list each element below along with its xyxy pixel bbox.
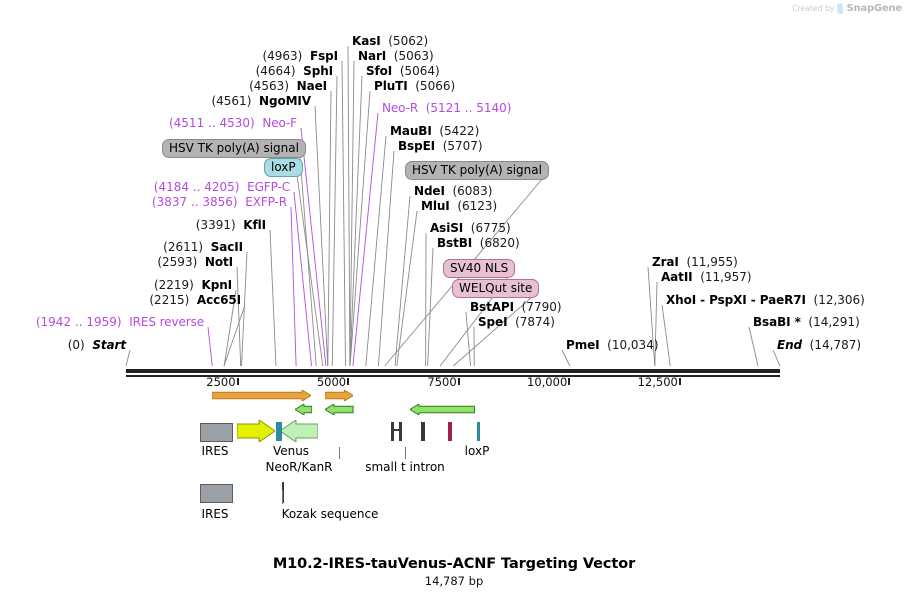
enzyme-position: (5121 .. 5140) <box>426 101 512 115</box>
primer-arrow-icon <box>325 404 353 415</box>
enzyme-name: BstBI <box>437 236 472 250</box>
enzyme-label-spei[interactable]: SpeI (7874) <box>478 316 555 329</box>
enzyme-label-bspei[interactable]: BspEI (5707) <box>398 140 483 153</box>
primer-arrow-icon <box>410 404 475 415</box>
primer-exfp-reverse[interactable] <box>295 404 312 415</box>
enzyme-position: (4184 .. 4205) <box>154 180 240 194</box>
enzyme-name: FspI <box>310 49 338 63</box>
enzyme-label-sacii[interactable]: (2611) SacII <box>163 241 243 254</box>
ruler-tick <box>458 378 460 385</box>
enzyme-label-bstbi[interactable]: BstBI (6820) <box>437 237 520 250</box>
enzyme-label-noti[interactable]: (2593) NotI <box>157 256 233 269</box>
enzyme-name: Start <box>92 338 126 352</box>
enzyme-label-ires-reverse[interactable]: (1942 .. 1959) IRES reverse <box>36 316 204 329</box>
enzyme-position: (5064) <box>400 64 440 78</box>
enzyme-label-ngomiv[interactable]: (4561) NgoMIV <box>211 95 311 108</box>
enzyme-position: (5066) <box>415 79 455 93</box>
enzyme-name: NdeI <box>414 184 445 198</box>
feature-pill-label: HSV TK poly(A) signal <box>169 141 299 155</box>
enzyme-position: (14,291) <box>808 315 859 329</box>
enzyme-name: EGFP-C <box>247 180 290 194</box>
ruler-bar-top <box>126 369 780 373</box>
enzyme-position: (11,955) <box>686 255 737 269</box>
primer-arrow-icon <box>212 390 311 401</box>
feature-pill-welqut-site-pill[interactable]: WELQut site <box>452 279 539 298</box>
ruler-tick-label: 5000 <box>317 375 346 389</box>
feature-neor-orf[interactable] <box>280 420 318 442</box>
feature-pill-sv40-nls-pill[interactable]: SV40 NLS <box>443 259 515 278</box>
enzyme-label-pmei[interactable]: PmeI (10,034) <box>566 339 659 352</box>
enzyme-label-end[interactable]: End (14,787) <box>777 339 861 352</box>
enzyme-position: (11,957) <box>700 270 751 284</box>
ruler-tick <box>568 378 570 385</box>
ruler-tick <box>679 378 681 385</box>
feature-pill-label: HSV TK poly(A) signal <box>412 163 542 177</box>
primer-arrow-icon <box>325 390 353 401</box>
feature-loxp-left2[interactable] <box>279 422 282 441</box>
enzyme-label-acc65i[interactable]: (2215) Acc65I <box>149 294 241 307</box>
enzyme-name: NgoMIV <box>259 94 311 108</box>
feature-stem-2 <box>282 490 283 504</box>
enzyme-name: SfoI <box>366 64 392 78</box>
feature-ires-legend-box[interactable] <box>200 423 233 442</box>
enzyme-name: SacII <box>211 240 243 254</box>
feature-venus-orf[interactable] <box>237 420 275 442</box>
enzyme-position: (1942 .. 1959) <box>36 315 122 329</box>
enzyme-position: (2593) <box>157 255 197 269</box>
enzyme-label-start[interactable]: (0) Start <box>68 339 126 352</box>
enzyme-name: BsaBI * <box>753 315 801 329</box>
enzyme-label-bstapi[interactable]: BstAPI (7790) <box>470 301 562 314</box>
plasmid-map-canvas: Created by SnapGene (4963) FspI(4664) Sp… <box>0 0 908 596</box>
enzyme-label-pluti[interactable]: PluTI (5066) <box>374 80 455 93</box>
enzyme-position: (12,306) <box>814 293 865 307</box>
enzyme-name: PmeI <box>566 338 600 352</box>
enzyme-position: (2215) <box>149 293 189 307</box>
track-label-neor: NeoR/KanR <box>265 461 332 474</box>
enzyme-label-xhoi-pspxi-paer7i[interactable]: XhoI - PspXI - PaeR7I (12,306) <box>666 294 865 307</box>
enzyme-label-asisi[interactable]: AsiSI (6775) <box>430 222 511 235</box>
ruler-tick <box>347 378 349 385</box>
enzyme-name: PluTI <box>374 79 408 93</box>
ruler-tick-label: 7500 <box>427 375 456 389</box>
enzyme-position: (4561) <box>211 94 251 108</box>
enzyme-name: NotI <box>205 255 233 269</box>
enzyme-position: (6820) <box>480 236 520 250</box>
primer-tk-reverse[interactable] <box>410 404 475 415</box>
enzyme-position: (0) <box>68 338 85 352</box>
enzyme-name: Neo-F <box>262 116 297 130</box>
snapgene-logo-icon <box>837 3 843 14</box>
enzyme-position: (6775) <box>471 221 511 235</box>
track-label-kozak: Kozak sequence <box>282 508 379 521</box>
enzyme-position: (7874) <box>515 315 555 329</box>
ruler-tick-label: 2500 <box>206 375 235 389</box>
snapgene-watermark: Created by SnapGene <box>792 3 902 14</box>
enzyme-name: KasI <box>352 34 381 48</box>
enzyme-name: IRES reverse <box>129 315 204 329</box>
enzyme-position: (4511 .. 4530) <box>169 116 255 130</box>
enzyme-name: MauBI <box>390 124 432 138</box>
enzyme-position: (4963) <box>262 49 302 63</box>
enzyme-position: (3391) <box>196 218 236 232</box>
primer-neo-reverse[interactable] <box>325 404 353 415</box>
enzyme-name: SphI <box>303 64 333 78</box>
enzyme-label-bsabi[interactable]: BsaBI * (14,291) <box>753 316 860 329</box>
enzyme-position: (5063) <box>394 49 434 63</box>
ruler-tick-label: 10,000 <box>527 375 567 389</box>
feature-loxp-right[interactable] <box>477 422 480 441</box>
enzyme-position: (3837 .. 3856) <box>152 195 238 209</box>
track-label-smallt: small t intron <box>365 461 445 474</box>
feature-pill-loxp-pill[interactable]: loxP <box>264 158 303 177</box>
orf-arrow-icon <box>280 420 318 442</box>
feature-pill-label: loxP <box>271 160 296 174</box>
feature-pill-label: WELQut site <box>459 281 532 295</box>
watermark-prefix: Created by <box>792 4 834 13</box>
track-label-loxp: loxP <box>465 445 490 458</box>
primer-ires-forward[interactable] <box>212 390 311 401</box>
enzyme-position: (5422) <box>439 124 479 138</box>
enzyme-name: KpnI <box>202 278 233 292</box>
enzyme-position: (2611) <box>163 240 203 254</box>
enzyme-name: NarI <box>358 49 386 63</box>
enzyme-label-fspi[interactable]: (4963) FspI <box>262 50 338 63</box>
enzyme-name: End <box>777 338 802 352</box>
enzyme-label-zrai[interactable]: ZraI (11,955) <box>652 256 738 269</box>
enzyme-position: (6123) <box>457 199 497 213</box>
enzyme-name: Acc65I <box>197 293 241 307</box>
enzyme-label-egfp-c[interactable]: (4184 .. 4205) EGFP-C <box>154 181 290 194</box>
enzyme-name: XhoI - PspXI - PaeR7I <box>666 293 806 307</box>
enzyme-position: (4563) <box>249 79 289 93</box>
enzyme-label-kpni[interactable]: (2219) KpnI <box>154 279 232 292</box>
enzyme-label-neo-f[interactable]: (4511 .. 4530) Neo-F <box>169 117 297 130</box>
feature-small-t-intron-b[interactable] <box>399 422 402 441</box>
track-label-ires2: IRES <box>201 508 228 521</box>
enzyme-label-maubi[interactable]: MauBI (5422) <box>390 125 479 138</box>
enzyme-label-aatii[interactable]: AatII (11,957) <box>661 271 752 284</box>
enzyme-position: (6083) <box>452 184 492 198</box>
feature-stem-1 <box>405 447 406 459</box>
feature-promoter-bar[interactable] <box>448 422 452 441</box>
enzyme-name: KflI <box>243 218 266 232</box>
feature-pill-label: SV40 NLS <box>450 261 508 275</box>
enzyme-position: (4664) <box>256 64 296 78</box>
track-label-venus: Venus <box>273 445 309 458</box>
watermark-brand: SnapGene <box>846 3 902 14</box>
track-label-ires: IRES <box>201 445 228 458</box>
orf-arrow-icon <box>237 420 275 442</box>
enzyme-name: NaeI <box>297 79 327 93</box>
feature-pill-hsv-tk-polya-signal-left[interactable]: HSV TK poly(A) signal <box>162 139 306 158</box>
page-subtitle: 14,787 bp <box>0 574 908 588</box>
enzyme-position: (7790) <box>522 300 562 314</box>
enzyme-label-nari[interactable]: NarI (5063) <box>358 50 434 63</box>
feature-small-t-intron-a[interactable] <box>391 422 394 441</box>
enzyme-position: (5707) <box>443 139 483 153</box>
feature-small-t-intron-x[interactable] <box>393 429 400 431</box>
enzyme-position: (5062) <box>388 34 428 48</box>
enzyme-position: (14,787) <box>810 338 861 352</box>
enzyme-label-sfoi[interactable]: SfoI (5064) <box>366 65 440 78</box>
enzyme-name: Neo-R <box>382 101 418 115</box>
enzyme-name: ZraI <box>652 255 679 269</box>
ruler-tick <box>237 378 239 385</box>
enzyme-name: AsiSI <box>430 221 463 235</box>
enzyme-label-kasi[interactable]: KasI (5062) <box>352 35 428 48</box>
enzyme-label-ndei[interactable]: NdeI (6083) <box>414 185 492 198</box>
enzyme-position: (10,034) <box>607 338 658 352</box>
enzyme-label-kfli[interactable]: (3391) KflI <box>196 219 266 232</box>
page-title: M10.2-IRES-tauVenus-ACNF Targeting Vecto… <box>0 556 908 572</box>
primer-arrow-icon <box>295 404 312 415</box>
enzyme-label-mlui[interactable]: MluI (6123) <box>421 200 497 213</box>
enzyme-label-exfp-r[interactable]: (3837 .. 3856) EXFP-R <box>152 196 287 209</box>
enzyme-name: BspEI <box>398 139 435 153</box>
ruler-tick-label: 12,500 <box>638 375 678 389</box>
enzyme-name: MluI <box>421 199 450 213</box>
feature-polya-bar[interactable] <box>421 422 425 441</box>
enzyme-name: AatII <box>661 270 693 284</box>
primer-neo-forward[interactable] <box>325 390 353 401</box>
enzyme-name: BstAPI <box>470 300 514 314</box>
feature-pill-hsv-tk-polya-signal-right[interactable]: HSV TK poly(A) signal <box>405 161 549 180</box>
enzyme-name: EXFP-R <box>245 195 287 209</box>
enzyme-label-neo-r[interactable]: Neo-R (5121 .. 5140) <box>382 102 511 115</box>
enzyme-label-sphi[interactable]: (4664) SphI <box>256 65 333 78</box>
enzyme-name: SpeI <box>478 315 507 329</box>
legend-ires-box[interactable] <box>200 484 233 503</box>
feature-stem-0 <box>339 447 340 459</box>
enzyme-position: (2219) <box>154 278 194 292</box>
enzyme-label-naei[interactable]: (4563) NaeI <box>249 80 327 93</box>
